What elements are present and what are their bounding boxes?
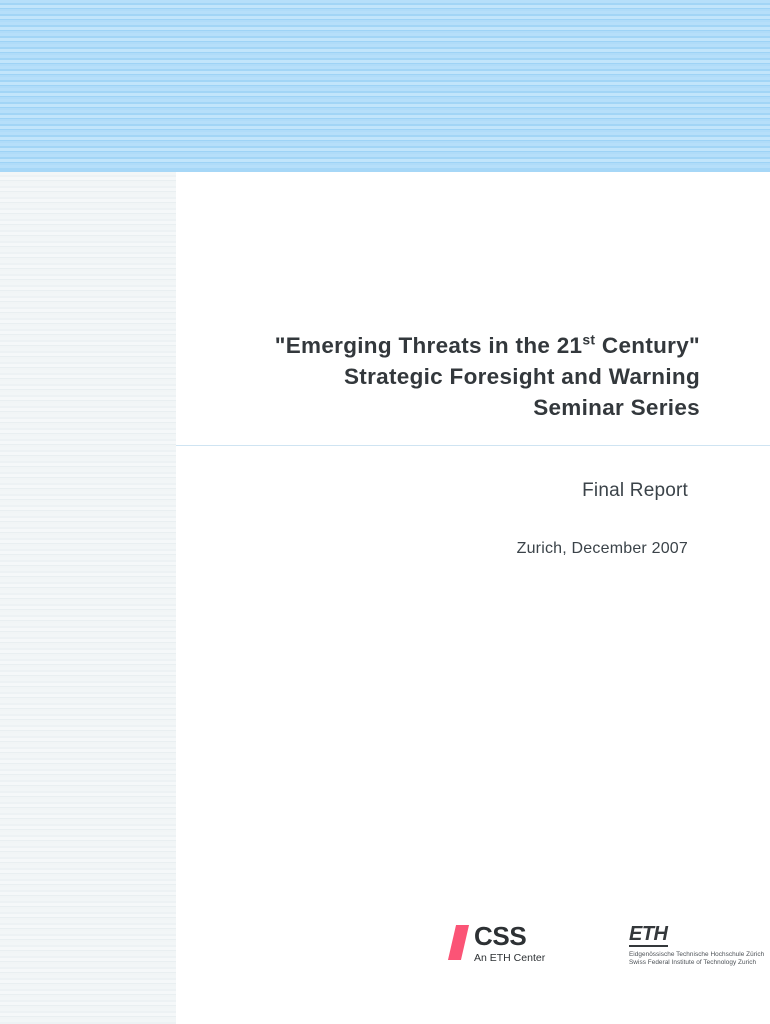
title-line-1-prefix: "Emerging Threats in the 21 [275, 333, 583, 358]
title-line-3: Seminar Series [230, 392, 700, 423]
report-type-label: Final Report [228, 480, 688, 502]
header-stripe-band [0, 0, 770, 172]
title-ordinal-suffix: st [582, 332, 595, 348]
eth-tagline: Eidgenössische Technische Hochschule Zür… [629, 951, 764, 968]
css-logo-text: CSS An ETH Center [474, 924, 545, 965]
eth-tagline-english: Swiss Federal Institute of Technology Zu… [629, 959, 764, 967]
title-line-1: "Emerging Threats in the 21st Century" [230, 330, 700, 361]
eth-logo: ETH Eidgenössische Technische Hochschule… [629, 924, 764, 968]
document-title: "Emerging Threats in the 21st Century" S… [230, 330, 700, 423]
title-divider-rule [176, 445, 770, 446]
css-wordmark: CSS [474, 924, 545, 949]
cover-content: "Emerging Threats in the 21st Century" S… [176, 172, 770, 1024]
title-line-1-suffix: Century" [595, 333, 700, 358]
cover-page: "Emerging Threats in the 21st Century" S… [0, 0, 770, 1024]
css-logo: CSS An ETH Center [452, 924, 545, 965]
title-line-2: Strategic Foresight and Warning [230, 361, 700, 392]
logo-row: CSS An ETH Center ETH Eidgenössische Tec… [452, 924, 712, 984]
css-subtitle: An ETH Center [474, 952, 545, 965]
sidebar-stripe-band [0, 172, 176, 1024]
css-slash-icon [448, 925, 469, 960]
eth-wordmark: ETH [629, 924, 668, 947]
place-and-date-label: Zurich, December 2007 [228, 540, 688, 558]
eth-tagline-german: Eidgenössische Technische Hochschule Zür… [629, 951, 764, 959]
